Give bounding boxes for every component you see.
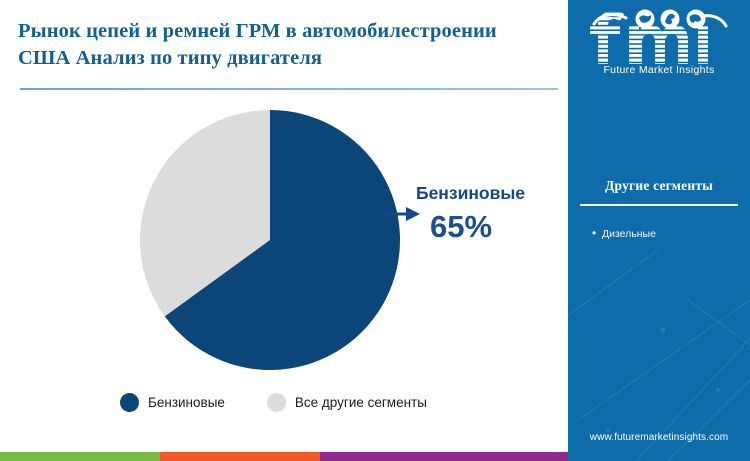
strip-segment-purple [320, 452, 568, 461]
bullet-icon: • [592, 226, 602, 240]
strip-segment-orange [160, 452, 320, 461]
globe-icon-2 [661, 10, 680, 29]
legend-swatch-other [267, 393, 286, 412]
list-item[interactable]: • Дизельные [592, 226, 742, 242]
legend-label-petrol: Бензиновые [148, 395, 225, 410]
logo-letter-m [624, 8, 694, 68]
logo-tagline: Future Market Insights [584, 64, 734, 76]
legend-swatch-petrol [120, 393, 139, 412]
page-title-line-1: Рынок цепей и ремней ГРМ в автомобилестр… [18, 18, 548, 45]
website-url[interactable]: www.futuremarketinsights.com [568, 432, 750, 443]
page-title-line-2: США Анализ по типу двигателя [18, 45, 548, 72]
callout-label: Бензиновые [416, 182, 556, 204]
strip-segment-green [0, 452, 160, 461]
other-segments-list: • Дизельные [592, 226, 742, 248]
fmi-logo[interactable]: Future Market Insights [584, 8, 734, 80]
globe-icon-1 [636, 10, 655, 29]
pie-chart [140, 108, 420, 376]
list-item-label: Дизельные [602, 226, 656, 242]
pie-chart-svg [140, 108, 420, 376]
fmi-logo-mark [584, 8, 734, 68]
side-panel: Future Market Insights Другие сегменты •… [568, 0, 750, 461]
slide-canvas: Рынок цепей и ремней ГРМ в автомобилестр… [0, 0, 750, 461]
other-segments-heading: Другие сегменты [568, 178, 750, 194]
chart-legend: Бензиновые Все другие сегменты [120, 393, 469, 412]
callout-block: Бензиновые 65% [416, 182, 556, 244]
legend-label-other: Все другие сегменты [295, 395, 427, 410]
title-divider [20, 88, 558, 90]
globe-icon-3 [687, 10, 706, 29]
footer-color-strip [0, 452, 568, 461]
legend-item-petrol[interactable]: Бензиновые [120, 393, 225, 412]
page-title: Рынок цепей и ремней ГРМ в автомобилестр… [18, 18, 548, 72]
legend-item-other[interactable]: Все другие сегменты [267, 393, 427, 412]
callout-value: 65% [430, 210, 556, 244]
other-segments-underline [580, 204, 738, 206]
